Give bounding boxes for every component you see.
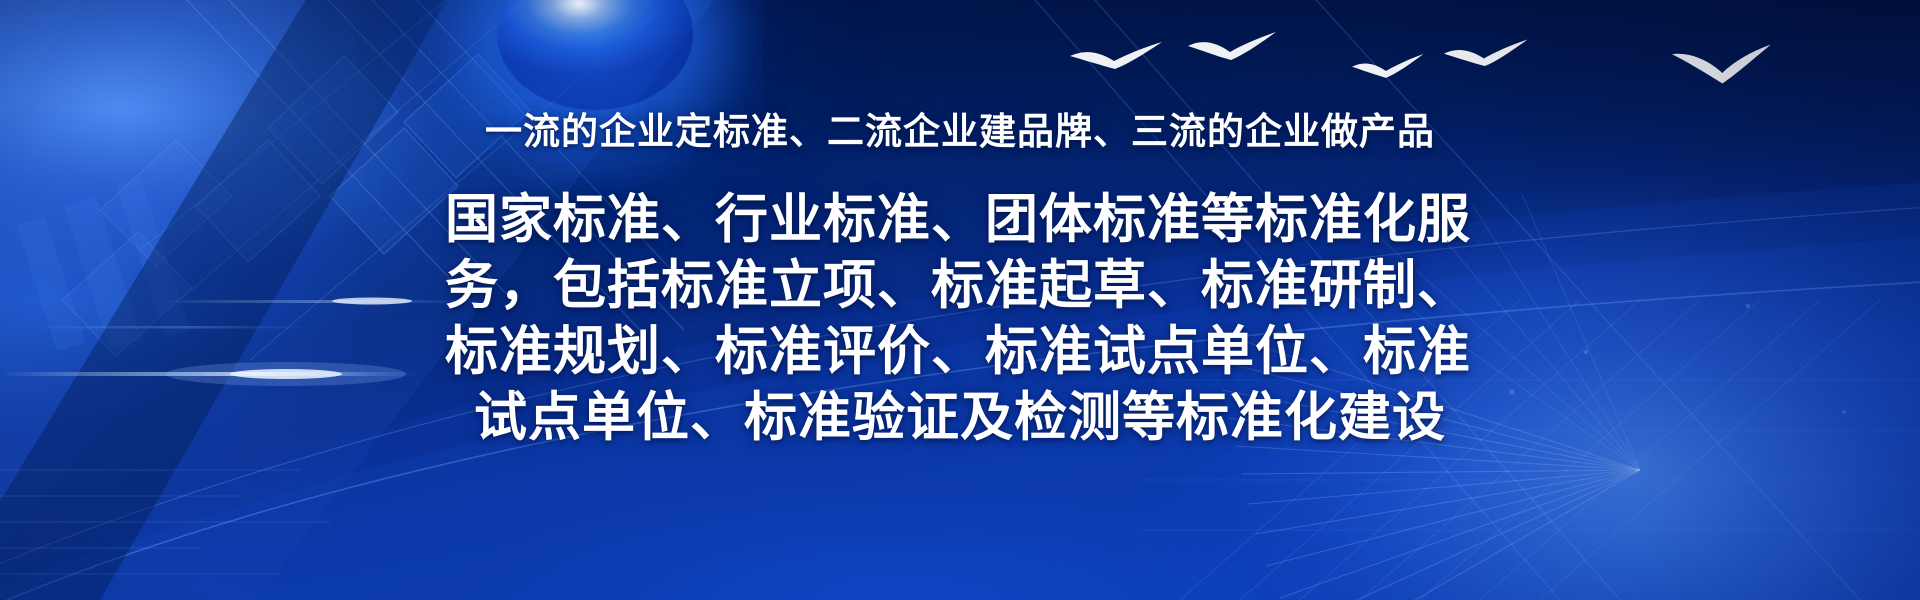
banner-headline: 国家标准、行业标准、团体标准等标准化服 务，包括标准立项、标准起草、标准研制、 … [445, 187, 1475, 451]
headline-line-4: 试点单位、标准验证及检测等标准化建设 [445, 385, 1475, 451]
headline-line-4-text: 试点单位、标准验证及检测等标准化建设 [474, 388, 1446, 447]
headline-line-3: 标准规划、标准评价、标准试点单位、标准 [445, 319, 1475, 385]
headline-line-2-text: 务，包括标准立项、标准起草、标准研制、 [445, 253, 1471, 319]
promo-banner: 一流的企业定标准、二流企业建品牌、三流的企业做产品 国家标准、行业标准、团体标准… [0, 0, 1920, 600]
headline-line-1-text: 国家标准、行业标准、团体标准等标准化服 [445, 187, 1471, 253]
headline-line-2: 务，包括标准立项、标准起草、标准研制、 [445, 253, 1475, 319]
headline-line-1: 国家标准、行业标准、团体标准等标准化服 [445, 187, 1475, 253]
banner-subtitle: 一流的企业定标准、二流企业建品牌、三流的企业做产品 [0, 112, 1920, 153]
headline-line-3-text: 标准规划、标准评价、标准试点单位、标准 [445, 319, 1471, 385]
banner-content: 一流的企业定标准、二流企业建品牌、三流的企业做产品 国家标准、行业标准、团体标准… [0, 0, 1920, 451]
